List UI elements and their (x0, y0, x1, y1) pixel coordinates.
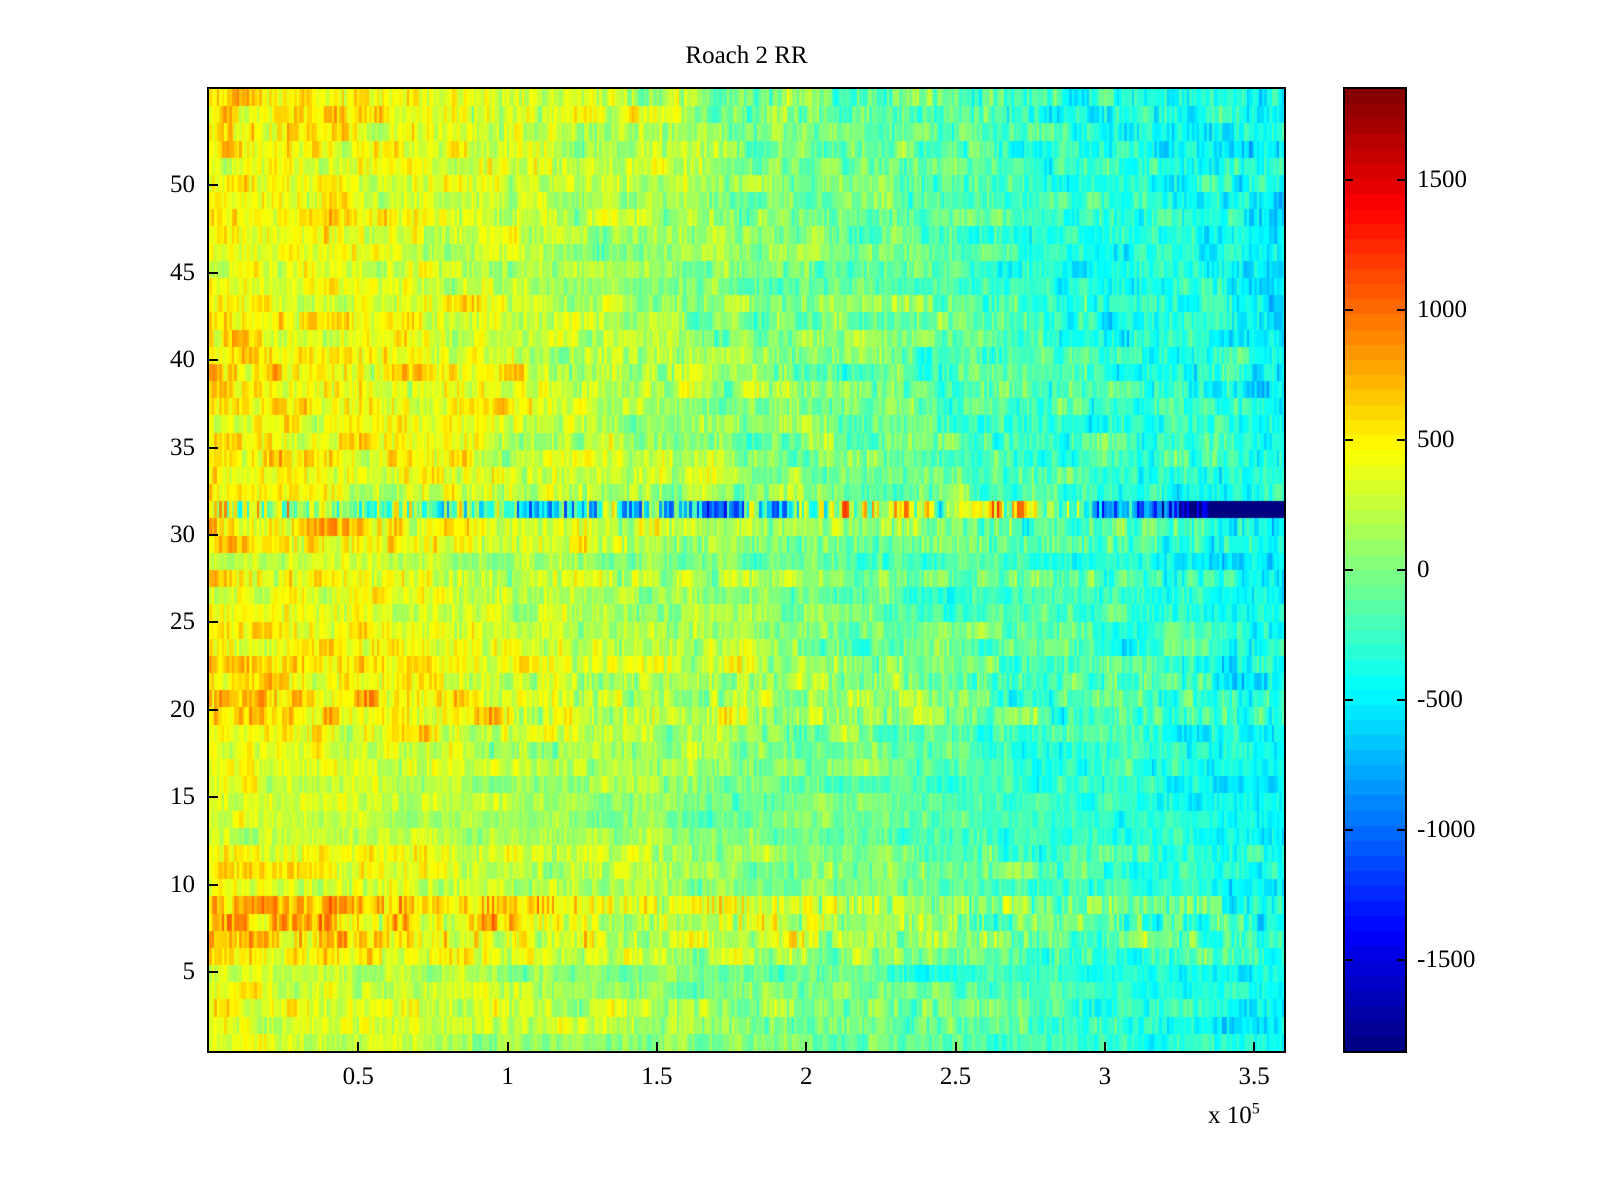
x-axis-tick-mark (357, 1042, 359, 1051)
y-axis-tick-mark (209, 796, 218, 798)
colorbar-tick-mark (1397, 309, 1405, 311)
y-axis-tick-label: 50 (117, 171, 195, 199)
y-axis-tick-mark (209, 359, 218, 361)
x-axis-tick-label: 3.5 (1239, 1063, 1270, 1091)
y-axis-tick-mark (209, 534, 218, 536)
x-axis-tick-mark (507, 1042, 509, 1051)
colorbar-tick-mark (1345, 179, 1353, 181)
y-axis-tick-mark (209, 971, 218, 973)
y-axis-tick-mark (209, 272, 218, 274)
colorbar-tick-mark (1345, 959, 1353, 961)
y-axis-tick-label: 25 (117, 608, 195, 636)
colorbar-tick-label: -1500 (1417, 946, 1475, 974)
heatmap-image (209, 89, 1284, 1051)
x-axis-tick-label: 3 (1099, 1063, 1112, 1091)
y-axis-tick-label: 20 (117, 696, 195, 724)
colorbar-tick-label: 500 (1417, 426, 1455, 454)
x-axis-tick-mark (955, 1042, 957, 1051)
x-axis-tick-label: 1 (501, 1063, 514, 1091)
colorbar-tick-mark (1345, 309, 1353, 311)
heatmap-axes[interactable] (207, 87, 1286, 1053)
colorbar-tick-mark (1345, 439, 1353, 441)
y-axis-tick-label: 40 (117, 346, 195, 374)
colorbar-tick-label: 0 (1417, 556, 1430, 584)
colorbar-tick-mark (1397, 699, 1405, 701)
colorbar-tick-mark (1345, 699, 1353, 701)
x-axis-tick-mark (1253, 1042, 1255, 1051)
colorbar-tick-mark (1397, 569, 1405, 571)
y-axis-tick-label: 30 (117, 521, 195, 549)
y-axis-tick-label: 5 (117, 958, 195, 986)
x-axis-tick-mark (805, 1042, 807, 1051)
x-axis-tick-label: 0.5 (343, 1063, 374, 1091)
x-exponent-power: 5 (1252, 1101, 1260, 1118)
x-axis-tick-label: 1.5 (641, 1063, 672, 1091)
x-axis-tick-mark (656, 1042, 658, 1051)
x-axis-exponent-label: x 105 (1208, 1102, 1260, 1130)
colorbar-tick-label: -500 (1417, 686, 1463, 714)
colorbar-tick-mark (1397, 959, 1405, 961)
colorbar-gradient (1345, 89, 1405, 1051)
y-axis-tick-label: 15 (117, 783, 195, 811)
y-axis-tick-label: 10 (117, 871, 195, 899)
y-axis-tick-mark (209, 884, 218, 886)
y-axis-tick-mark (209, 621, 218, 623)
figure-canvas: Roach 2 RR 0.511.522.533.551015202530354… (0, 0, 1600, 1200)
colorbar-tick-mark (1345, 569, 1353, 571)
y-axis-tick-label: 45 (117, 259, 195, 287)
y-axis-tick-mark (209, 447, 218, 449)
x-axis-tick-mark (1104, 1042, 1106, 1051)
x-exponent-base: x 10 (1208, 1102, 1252, 1129)
y-axis-tick-label: 35 (117, 434, 195, 462)
colorbar-tick-mark (1345, 829, 1353, 831)
y-axis-tick-mark (209, 184, 218, 186)
x-axis-tick-label: 2.5 (940, 1063, 971, 1091)
colorbar-tick-mark (1397, 829, 1405, 831)
y-axis-tick-mark (209, 709, 218, 711)
colorbar-tick-mark (1397, 179, 1405, 181)
colorbar-tick-label: 1000 (1417, 296, 1467, 324)
x-axis-tick-label: 2 (800, 1063, 813, 1091)
page-title: Roach 2 RR (0, 42, 1493, 70)
colorbar-tick-label: -1000 (1417, 816, 1475, 844)
colorbar-tick-mark (1397, 439, 1405, 441)
colorbar-tick-label: 1500 (1417, 166, 1467, 194)
